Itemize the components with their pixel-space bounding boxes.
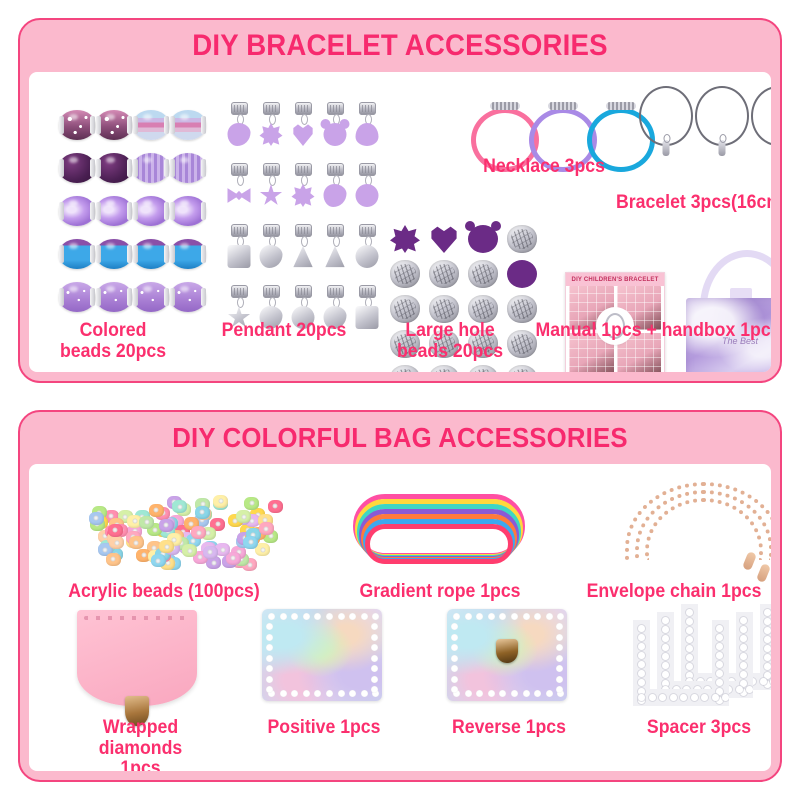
spacer-hole [722,694,729,701]
pendant-charm [256,222,286,282]
spacer-hole [716,643,723,650]
pendant-charm [320,222,350,282]
acrylic-bead [106,553,121,566]
acrylic-bead [108,524,123,537]
large-hole-bead [507,295,537,323]
punch-hole [557,613,564,620]
punch-hole [266,623,273,630]
spacer-hole [740,635,747,642]
envelope-chain [619,476,771,584]
label-positive: Positive 1pcs [254,718,394,739]
acrylic-bead [244,497,259,510]
bead-highlight [180,200,189,207]
pendant-charm [288,100,318,160]
panel-bracelet-body: DIY CHILDREN'S BRACELET The Best Colored… [29,72,771,372]
large-hole-bead [507,225,537,253]
punch-hole [451,623,458,630]
pendant-charm [352,161,382,221]
bead-highlight [143,157,152,164]
spacer-hole [716,679,723,686]
acrylic-bead [195,506,210,519]
label-gradient-rope: Gradient rope 1pcs [333,582,547,603]
reverse-holo-panel [447,609,567,701]
colored-bead [96,110,132,140]
punch-hole [465,613,472,620]
punch-hole [314,613,321,620]
jump-ring-icon [237,175,244,186]
jump-ring-icon [237,297,244,308]
punch-hole [556,623,563,630]
punch-hole [451,655,458,662]
colored-bead [170,282,206,312]
colored-bead [96,153,132,183]
panel-bag-accessories: DIY COLORFUL BAG ACCESSORIES [18,410,782,782]
punch-hole [326,690,333,697]
colored-bead [133,110,169,140]
colored-bead [59,196,95,226]
punch-hole [523,613,530,620]
spacer-hole [686,609,693,616]
punch-hole [476,613,483,620]
label-pendant: Pendant 20pcs [210,321,359,342]
colored-bead [59,282,95,312]
pendant-charm [224,100,254,160]
charm-body [292,123,315,146]
spacer-hole [746,686,753,693]
bead-highlight [106,243,115,250]
acrylic-bead [203,546,218,559]
punch-hole [266,634,273,641]
punch-hole [511,613,518,620]
handbox-gift-bag: The Best [684,250,771,372]
punch-hole [523,690,530,697]
charm-icon [719,140,726,156]
large-hole-bead [507,365,537,372]
punch-hole [280,690,287,697]
punch-hole [465,690,472,697]
punch-hole [534,690,541,697]
punch-hole [291,613,298,620]
spacer-hole [659,694,666,701]
punch-hole [476,690,483,697]
acrylic-bead [236,510,251,523]
spacer-hole [649,694,656,701]
manual-header-text: DIY CHILDREN'S BRACELET [566,273,664,286]
large-hole-bead [507,260,537,288]
acrylic-bead [89,512,104,525]
jump-ring-icon [301,114,308,125]
spacer-hole [638,634,645,641]
label-manual-handbox: Manual 1pcs + handbox 1pcs [532,321,771,342]
large-hole-bead [468,260,498,288]
panel-bracelet-accessories: DIY BRACELET ACCESSORIES DIY CHILDREN'S … [18,18,782,383]
spacer-hole [716,652,723,659]
label-wrapped-diamonds: Wrapped diamonds 1pcs [78,718,204,771]
spacer-hole [736,686,743,693]
punch-hole [349,690,356,697]
punch-hole [266,655,273,662]
punch-hole [266,676,273,683]
pendant-charm [224,222,254,282]
spacer-hole [662,653,669,660]
punch-hole [371,655,378,662]
pendant-charm [320,100,350,160]
bead-highlight [180,286,189,293]
punch-hole [499,613,506,620]
large-hole-bead [468,225,498,253]
positive-holo-panel [262,609,382,701]
pendant-charm [352,222,382,282]
colored-bead [170,196,206,226]
acrylic-bead [191,526,206,539]
colored-bead [59,239,95,269]
spacer-hole [701,694,708,701]
jump-ring-icon [269,114,276,125]
punch-hole [499,690,506,697]
colored-bead [133,153,169,183]
spacer-hole [686,663,693,670]
jump-ring-icon [301,175,308,186]
spacer-hole [686,618,693,625]
spacer-hole [662,671,669,678]
spacer-hole [662,617,669,624]
large-hole-bead [429,225,459,253]
spacer-hole [638,670,645,677]
punch-hole [372,613,379,620]
punch-hole [371,676,378,683]
spacer-hole [686,627,693,634]
spacer-hole [686,636,693,643]
punch-hole [371,686,378,693]
colored-bead [133,196,169,226]
punch-hole [266,686,273,693]
spacer-hole [740,644,747,651]
panel-bag-body: Acrylic beads (100pcs) Gradient rope 1pc… [29,464,771,771]
punch-hole [361,690,368,697]
punch-hole [338,613,345,620]
rope-strand [365,524,513,564]
pendant-charms-group [224,100,382,343]
acrylic-bead [139,516,154,529]
label-envelope-chain: Envelope chain 1pcs [576,582,771,603]
acrylic-bead [172,500,187,513]
acrylic-bead [243,536,258,549]
punch-hole [451,634,458,641]
charm-body [292,245,315,268]
bead-highlight [143,200,152,207]
spacer-hole [740,662,747,669]
product-infographic: DIY BRACELET ACCESSORIES DIY CHILDREN'S … [0,0,800,800]
pendant-charm [256,100,286,160]
bracelets-group [637,86,771,186]
punch-hole [556,686,563,693]
large-hole-bead [429,295,459,323]
label-acrylic-beads: Acrylic beads (100pcs) [48,582,281,603]
label-reverse: Reverse 1pcs [439,718,579,739]
panel-bracelet-title: DIY BRACELET ACCESSORIES [50,20,749,72]
punch-hole [546,613,553,620]
colored-bead [96,196,132,226]
spacer-hole [680,694,687,701]
spacer-hole [686,654,693,661]
pendant-charm [256,161,286,221]
charm-body [356,306,379,329]
bracelet-bangle [639,86,693,146]
spacer-hole [764,618,771,625]
large-hole-bead [429,365,459,372]
charm-body [356,184,379,207]
punched-holes [84,616,190,620]
charm-body [228,245,251,268]
acrylic-beads-pile [73,482,293,578]
punch-hole [303,690,310,697]
punch-hole [451,665,458,672]
punch-hole [266,665,273,672]
acrylic-bead [159,519,174,532]
pendant-charm [320,161,350,221]
charm-body [228,123,251,146]
spacer-hole [760,678,767,685]
punch-hole [556,655,563,662]
charm-body [292,184,315,207]
punch-hole [546,690,553,697]
charm-body [324,184,347,207]
pendant-charm [224,161,254,221]
punch-hole [361,613,368,620]
acrylic-bead [149,504,164,517]
bracelet-bangle [695,86,749,146]
spacer-hole [638,661,645,668]
gradient-rope-coil [349,486,529,576]
spacer-hole [764,654,771,661]
bead-highlight [180,114,189,121]
bead-highlight [69,200,78,207]
acrylic-bead [182,544,197,557]
jump-ring-icon [269,175,276,186]
charm-body [260,184,283,207]
punch-hole [303,613,310,620]
spacer-group [629,602,771,712]
bead-highlight [180,157,189,164]
colored-bead [133,282,169,312]
spacer-hole [638,625,645,632]
punch-hole [488,613,495,620]
punch-hole [314,690,321,697]
spacer-hole [670,694,677,701]
spacer-hole [764,636,771,643]
spacer-hole [764,645,771,652]
punch-hole [291,690,298,697]
large-hole-bead [468,365,498,372]
spacer-hole [662,662,669,669]
large-hole-bead [390,365,420,372]
acrylic-bead [268,500,283,513]
charm-body [356,123,379,146]
punch-hole [338,690,345,697]
clasp-icon [606,102,636,110]
charm-body [356,245,379,268]
colored-bead [96,282,132,312]
acrylic-bead [259,522,274,535]
charm-body [324,245,347,268]
punch-hole [556,665,563,672]
bracelet-bangle [751,86,771,146]
punch-hole [556,676,563,683]
bead-highlight [143,286,152,293]
large-hole-bead [429,260,459,288]
clasp-icon [548,102,578,110]
large-hole-bead [390,260,420,288]
acrylic-bead [213,495,228,508]
bead-highlight [106,157,115,164]
spacer-hole [716,625,723,632]
jump-ring-icon [333,236,340,247]
bead-highlight [69,157,78,164]
spacer-hole [764,627,771,634]
punch-hole [280,613,287,620]
punch-hole [556,634,563,641]
colored-bead [170,153,206,183]
charm-body [228,184,251,207]
label-necklace: Necklace 3pcs [474,157,614,178]
large-hole-bead [390,295,420,323]
clasp-icon [490,102,520,110]
punch-hole [371,634,378,641]
wrapped-diamond-flap [77,610,197,706]
punch-hole [451,644,458,651]
colored-bead [170,110,206,140]
bead-highlight [106,200,115,207]
panel-bag-title: DIY COLORFUL BAG ACCESSORIES [50,412,749,464]
charm-body [260,123,283,146]
jump-ring-icon [301,236,308,247]
bead-highlight [69,286,78,293]
punch-hole [371,665,378,672]
bead-highlight [69,243,78,250]
bead-highlight [106,286,115,293]
label-large-hole-beads: Large hole beads 20pcs [390,321,511,362]
pendant-charm [288,161,318,221]
punch-hole [451,676,458,683]
pendant-charm [288,222,318,282]
punch-hole [453,613,460,620]
spacer-hole [740,626,747,633]
bead-highlight [69,114,78,121]
pendant-charm [352,100,382,160]
charm-icon [663,140,670,156]
spacer-hole [716,634,723,641]
spacer-hole [686,645,693,652]
spacer-hole [764,663,771,670]
spacer-hole [691,694,698,701]
colored-beads-group [59,104,206,317]
spacer-hole [638,652,645,659]
spacer-hole [716,661,723,668]
charm-body [324,123,347,146]
punch-hole [511,690,518,697]
spacer-hole [638,679,645,686]
spacer-strip [657,612,753,698]
spacer-hole [662,635,669,642]
spacer-hole [638,643,645,650]
colored-bead [133,239,169,269]
spacer-hole [770,678,771,685]
punch-hole [488,690,495,697]
punch-hole [349,613,356,620]
punch-hole [534,613,541,620]
charm-body [260,245,283,268]
spacer-hole [662,644,669,651]
large-hole-bead [390,225,420,253]
acrylic-bead [151,554,166,567]
bead-highlight [143,243,152,250]
spacer-hole [740,653,747,660]
spacer-hole [740,617,747,624]
punch-hole [556,644,563,651]
colored-bead [59,110,95,140]
spacer-hole [638,694,645,701]
punch-hole [371,623,378,630]
acrylic-bead [109,536,124,549]
gold-clasp-icon [496,639,518,663]
acrylic-bead [129,536,144,549]
colored-bead [170,239,206,269]
punch-hole [266,644,273,651]
large-hole-bead [468,295,498,323]
bead-highlight [143,114,152,121]
spacer-hole [764,609,771,616]
bead-highlight [180,243,189,250]
label-spacer: Spacer 3pcs [625,718,771,739]
label-bracelet: Bracelet 3pcs(16cm) [614,193,771,214]
punch-hole [451,686,458,693]
spacer-hole [716,670,723,677]
colored-bead [59,153,95,183]
label-colored-beads: Colored beads 20pcs [57,321,169,362]
bead-highlight [106,114,115,121]
spacer-hole [740,671,747,678]
punch-hole [371,644,378,651]
spacer-hole [662,626,669,633]
spacer-hole [712,694,719,701]
punch-hole [268,613,275,620]
punch-hole [326,613,333,620]
colored-bead [96,239,132,269]
